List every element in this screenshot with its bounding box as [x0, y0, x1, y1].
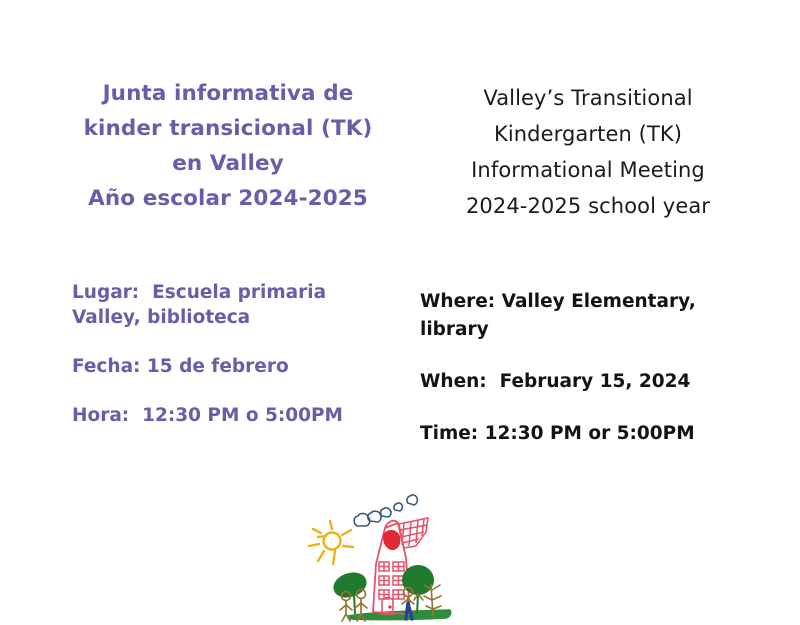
bird-chain-icon — [354, 495, 417, 526]
english-heading-line-4: 2024-2025 school year — [408, 188, 768, 224]
spanish-heading-line-1: Junta informativa de — [48, 76, 408, 111]
roof-flag-icon — [399, 518, 428, 548]
english-column: Valley’s Transitional Kindergarten (TK) … — [408, 0, 768, 490]
spanish-date-block: Fecha: 15 de febrero — [72, 354, 408, 379]
spanish-heading: Junta informativa de kinder transicional… — [48, 76, 408, 216]
right-tree-foliage — [402, 565, 434, 595]
spanish-location-block: Lugar: Escuela primaria Valley, bibliote… — [72, 280, 408, 330]
english-heading-line-2: Kindergarten (TK) — [408, 116, 768, 152]
house-roof-blob — [384, 530, 400, 549]
english-heading-line-1: Valley’s Transitional — [408, 80, 768, 116]
bilingual-columns: Junta informativa de kinder transicional… — [0, 0, 800, 490]
spanish-time-block: Hora: 12:30 PM o 5:00PM — [72, 403, 408, 428]
spanish-heading-line-2: kinder transicional (TK) — [48, 111, 408, 146]
spanish-details: Lugar: Escuela primaria Valley, bibliote… — [72, 280, 408, 428]
english-time-block: Time: 12:30 PM or 5:00PM — [420, 420, 768, 448]
english-date-line: When: February 15, 2024 — [420, 368, 768, 396]
house-windows — [379, 562, 404, 599]
english-location-line-2: library — [420, 316, 768, 344]
spanish-column: Junta informativa de kinder transicional… — [48, 0, 408, 490]
house-door-knob — [388, 605, 391, 608]
right-tree-trunk — [417, 594, 418, 614]
english-location-block: Where: Valley Elementary, library — [420, 288, 768, 344]
left-tree-trunk — [354, 594, 355, 614]
english-time-line: Time: 12:30 PM or 5:00PM — [420, 420, 768, 448]
sun-icon — [309, 521, 353, 564]
flyer-page: Junta informativa de kinder transicional… — [0, 0, 800, 625]
english-location-line-1: Where: Valley Elementary, — [420, 288, 768, 316]
english-heading-line-3: Informational Meeting — [408, 152, 768, 188]
childs-drawing-svg — [300, 488, 490, 625]
childs-drawing-illustration — [300, 488, 490, 625]
spanish-date-line: Fecha: 15 de febrero — [72, 354, 408, 379]
spanish-heading-line-4: Año escolar 2024-2025 — [48, 181, 408, 216]
spanish-heading-line-3: en Valley — [48, 146, 408, 181]
english-date-block: When: February 15, 2024 — [420, 368, 768, 396]
english-details: Where: Valley Elementary, library When: … — [420, 288, 768, 448]
english-heading: Valley’s Transitional Kindergarten (TK) … — [408, 80, 768, 224]
spanish-time-line: Hora: 12:30 PM o 5:00PM — [72, 403, 408, 428]
spanish-location-line-1: Lugar: Escuela primaria — [72, 280, 408, 305]
spanish-location-line-2: Valley, biblioteca — [72, 305, 408, 330]
